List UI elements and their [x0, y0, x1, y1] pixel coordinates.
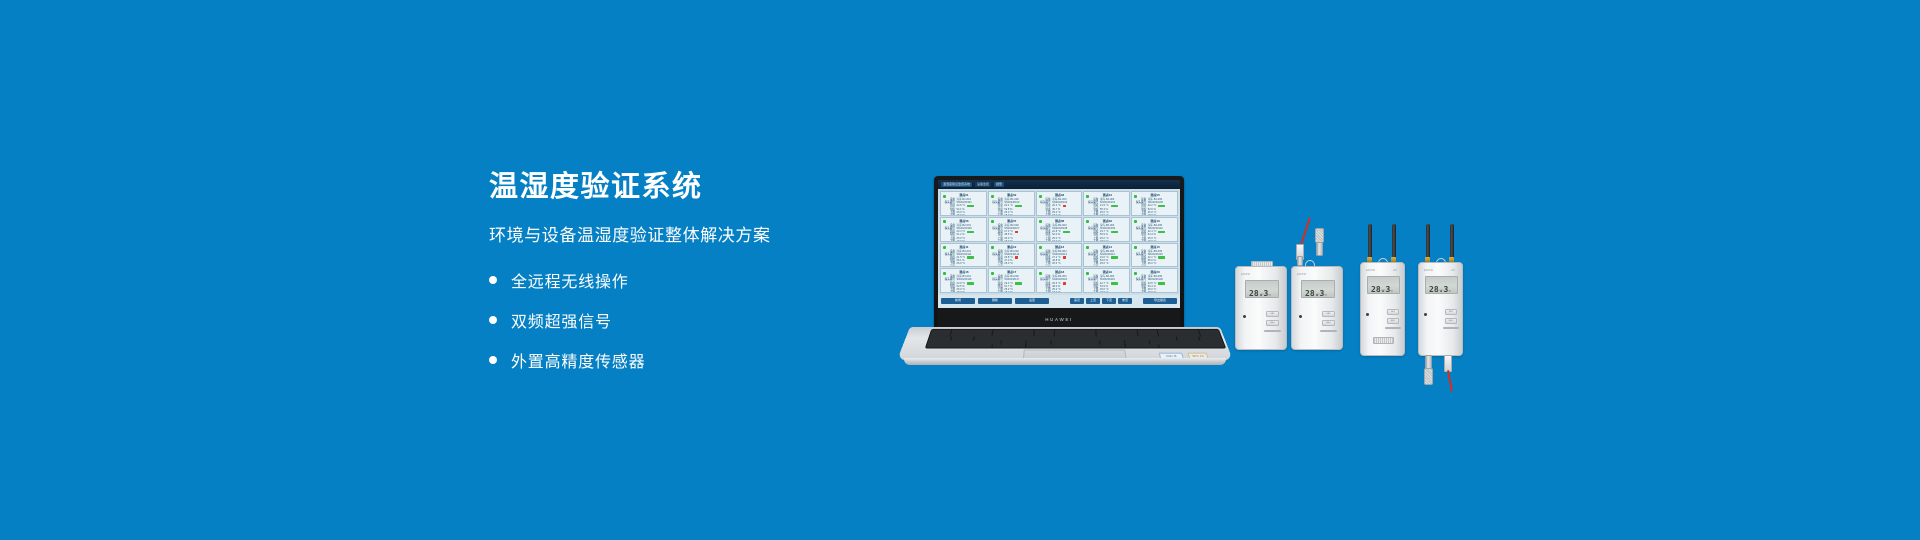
list-item: 外置高精度传感器 — [489, 348, 949, 372]
sensor-card-title: 测点15 — [1135, 246, 1175, 249]
keyboard-key[interactable] — [974, 337, 997, 340]
keyboard-key[interactable] — [1192, 345, 1226, 348]
lcd-humidity: 45.6 — [1249, 296, 1266, 298]
sensor-card-title: 测点13 — [1040, 246, 1080, 249]
sensor-card[interactable]: 测点13设备冷库-B3-003探头编号SN20230113温度27.2 °C湿度… — [1036, 243, 1083, 268]
device-model-label: H8 — [1393, 269, 1397, 272]
sensor-card[interactable]: 测点05设备冷库-B1-005探头编号SN20230105温度22.2 °C湿度… — [1131, 191, 1178, 216]
keyboard-key[interactable] — [977, 341, 1002, 344]
device-brand-label: ENOW — [1297, 273, 1306, 276]
sensor-field-label: 下限 — [1040, 214, 1051, 216]
indicator-led — [1299, 315, 1302, 318]
keyboard-key[interactable] — [931, 329, 952, 332]
keyboard-key[interactable] — [1199, 341, 1224, 344]
sensor-field-value: 18.0 °C — [1052, 214, 1061, 216]
rec-button[interactable]: REC — [1387, 318, 1399, 324]
laptop-keyboard[interactable] — [925, 329, 1227, 349]
sensor-field-value: 18.0 °C — [1100, 291, 1109, 293]
keyboard-key[interactable] — [1177, 337, 1200, 340]
keyboard-key[interactable] — [971, 333, 992, 336]
status-led-icon — [943, 246, 946, 249]
sensor-card-row: 下限18.0 °C — [992, 240, 1032, 242]
status-badge — [967, 282, 974, 285]
status-led-icon — [943, 272, 946, 275]
sensor-field-label: 下限 — [1135, 266, 1146, 268]
device-wireless-c: ENOW H8 28.3℃ 45.6%RH REC SET REC — [1360, 224, 1405, 356]
status-led-icon — [991, 220, 994, 223]
keyboard-key[interactable] — [959, 345, 992, 348]
status-badge — [1111, 282, 1118, 285]
tab-monitoring[interactable]: 温湿度验证监控系统 — [941, 182, 972, 187]
sensor-card[interactable]: 测点09设备冷库-B2-004探头编号SN20230109温度23.7 °C湿度… — [1083, 217, 1130, 242]
status-led-icon — [1086, 195, 1089, 198]
keyboard-key[interactable] — [952, 341, 977, 344]
pagination: 首页 上页 下页 末页 — [1070, 298, 1132, 304]
antenna-right-icon — [1392, 224, 1396, 258]
sensor-card-title: 测点01 — [944, 194, 984, 197]
app-topbar: 温湿度验证监控系统 设备监控 报警 — [938, 180, 1180, 189]
keyboard-key[interactable] — [926, 345, 960, 348]
sensor-card[interactable]: 测点01设备冷库-B1-001探头编号SN20230101温度22.6 °C湿度… — [940, 191, 987, 216]
keyboard-key[interactable] — [1042, 337, 1064, 340]
keyboard-key[interactable] — [927, 341, 952, 344]
keyboard-key[interactable] — [1159, 345, 1193, 348]
hero-text-block: 温湿度验证系统 环境与设备温湿度验证整体解决方案 全远程无线操作 双频超强信号 … — [489, 172, 949, 388]
keyboard-key[interactable] — [1076, 341, 1100, 344]
sensor-field-label: 下限 — [1087, 240, 1098, 242]
alarm-badge — [1063, 282, 1066, 285]
status-led-icon — [1134, 246, 1137, 249]
keyboard-key[interactable] — [1117, 333, 1138, 336]
sensor-field-label: 下限 — [944, 291, 955, 293]
keyboard-key[interactable] — [1013, 333, 1034, 336]
sensor-field-value: 18.0 °C — [1100, 214, 1109, 216]
keyboard-key[interactable] — [992, 333, 1013, 336]
sensor-field-label: 下限 — [992, 266, 1003, 268]
keyboard-key[interactable] — [1132, 337, 1155, 340]
antenna-left-icon — [1368, 224, 1372, 258]
sensor-card-title: 测点18 — [1040, 271, 1080, 274]
sensor-field-value: 18.0 °C — [1148, 214, 1157, 216]
sensor-card-title: 测点20 — [1135, 271, 1175, 274]
tab-alarms[interactable]: 报警 — [994, 182, 1004, 187]
keyboard-key[interactable] — [1087, 337, 1109, 340]
antenna-right-icon — [1450, 224, 1454, 258]
export-report-button[interactable]: 导出报表 — [1143, 298, 1177, 304]
sensor-card[interactable]: 测点15设备冷库-B3-005探头编号SN20230115温度22.1 °C湿度… — [1131, 243, 1178, 268]
keyboard-key[interactable] — [992, 345, 1025, 348]
status-led-icon — [1039, 272, 1042, 275]
laptop-base: Intel i5 WIN 10 — [900, 327, 1230, 367]
keyboard-key[interactable] — [1100, 341, 1124, 344]
sensor-card-row: 下限18.0 °C — [1135, 240, 1175, 242]
sensor-field-value: 18.0 °C — [1004, 266, 1013, 268]
sensor-card-row: 下限18.0 °C — [1087, 291, 1127, 293]
sensor-field-value: 18.0 °C — [1004, 240, 1013, 242]
status-led-icon — [991, 272, 994, 275]
alarm-badge — [1063, 205, 1066, 208]
laptop-screen: 温湿度验证监控系统 设备监控 报警 测点01设备冷库-B1-001探头编号SN2… — [938, 180, 1180, 308]
keyboard-row — [931, 329, 1220, 332]
page-title: 温湿度验证系统 — [489, 172, 949, 204]
lcd-display: 28.3℃ 45.6%RH REC — [1301, 280, 1335, 298]
keyboard-key[interactable] — [951, 329, 972, 332]
sensor-field-label: 下限 — [992, 291, 1003, 293]
keyboard-row — [930, 333, 1221, 336]
status-badge — [1015, 282, 1022, 285]
sensor-card-row: 下限18.0 °C — [944, 266, 984, 268]
list-item: 全远程无线操作 — [489, 268, 949, 292]
keyboard-key[interactable] — [972, 329, 993, 332]
keyboard-key[interactable] — [1055, 333, 1075, 336]
keyboard-key[interactable] — [1174, 341, 1199, 344]
indicator-led — [1243, 315, 1246, 318]
sensor-field-value: 18.0 °C — [1148, 240, 1157, 242]
feature-label: 外置高精度传感器 — [511, 348, 645, 372]
sensor-field-label: 下限 — [1040, 266, 1051, 268]
lcd-status-label: REC — [1246, 294, 1278, 296]
sensor-card-row: 下限18.0 °C — [944, 291, 984, 293]
status-badge — [1158, 205, 1165, 208]
keyboard-key[interactable] — [996, 337, 1018, 340]
sensor-field-label: 下限 — [1040, 240, 1051, 242]
keyboard-key[interactable] — [928, 337, 951, 340]
sensor-field-value: 18.0 °C — [1052, 240, 1061, 242]
sensor-card-row: 下限18.0 °C — [1135, 214, 1175, 216]
sensor-field-label: 下限 — [1135, 291, 1146, 293]
keyboard-key[interactable] — [1019, 337, 1041, 340]
keyboard-key[interactable] — [1109, 337, 1131, 340]
alarm-badge — [1015, 231, 1018, 234]
status-led-icon — [991, 246, 994, 249]
keyboard-key[interactable] — [1096, 333, 1117, 336]
bullet-icon — [489, 316, 497, 324]
set-button[interactable]: SET — [1322, 311, 1335, 317]
device-brand-label: ENOW — [1241, 273, 1250, 276]
keyboard-key[interactable] — [1154, 337, 1177, 340]
status-led-icon — [1039, 220, 1042, 223]
rec-button[interactable]: REC — [1445, 318, 1457, 324]
feature-label: 全远程无线操作 — [511, 268, 629, 292]
sensor-card-row: 下限18.0 °C — [1087, 266, 1127, 268]
status-led-icon — [943, 195, 946, 198]
keyboard-row — [928, 337, 1222, 340]
sensor-field-value: 18.0 °C — [1004, 291, 1013, 293]
keyboard-key[interactable] — [1059, 345, 1092, 348]
sensor-field-label: 下限 — [1087, 291, 1098, 293]
sensor-field-value: 18.0 °C — [1052, 266, 1061, 268]
lcd-humidity: 45.6 — [1371, 292, 1388, 294]
sensor-card-title: 测点10 — [1135, 220, 1175, 223]
sensor-card-row: 下限18.0 °C — [1135, 291, 1175, 293]
keyboard-key[interactable] — [1064, 337, 1086, 340]
device-lineup: ENOW 28.3℃ 45.6%RH REC SET REC — [1235, 210, 1535, 410]
lcd-humidity: 45.6 — [1429, 292, 1446, 294]
sensor-card-title: 测点04 — [1087, 194, 1127, 197]
set-button[interactable]: SET — [1387, 309, 1399, 315]
sensor-card[interactable]: 测点08设备冷库-B2-003探头编号SN20230108温度22.8 °C湿度… — [1036, 217, 1083, 242]
sensor-field-label: 下限 — [944, 240, 955, 242]
keyboard-key[interactable] — [1200, 333, 1221, 336]
sensor-field-value: 18.0 °C — [957, 240, 966, 242]
sensor-card-title: 测点14 — [1087, 246, 1127, 249]
device-model-label: H8 — [1451, 269, 1455, 272]
status-badge — [1111, 231, 1118, 234]
sensor-card[interactable]: 测点17设备冷库-B4-002探头编号SN20230117温度23.3 °C湿度… — [988, 268, 1035, 293]
list-item: 双频超强信号 — [489, 308, 949, 332]
keyboard-key[interactable] — [1157, 329, 1178, 332]
sensor-card[interactable]: 测点16设备冷库-B4-001探头编号SN20230116温度22.9 °C湿度… — [940, 268, 987, 293]
keyboard-key[interactable] — [1138, 333, 1159, 336]
label-strip — [1264, 330, 1281, 332]
device-logger-b: ENOW 28.3℃ 45.6%RH REC SET REC — [1291, 258, 1343, 350]
bullet-icon — [489, 356, 497, 364]
sensor-card[interactable]: 测点02设备冷库-B1-002探头编号SN20230102温度23.1 °C湿度… — [988, 191, 1035, 216]
status-led-icon — [1134, 272, 1137, 275]
sensor-field-value: 18.0 °C — [1004, 214, 1013, 216]
device-brand-label: ENOW — [1366, 269, 1375, 272]
status-led-icon — [1086, 272, 1089, 275]
status-badge — [1111, 256, 1118, 259]
sensor-card[interactable]: 测点19设备冷库-B4-004探头编号SN20230119温度22.7 °C湿度… — [1083, 268, 1130, 293]
status-badge — [1158, 231, 1165, 234]
status-led-icon — [1039, 195, 1042, 198]
hero-banner: 温湿度验证系统 环境与设备温湿度验证整体解决方案 全远程无线操作 双频超强信号 … — [0, 0, 1920, 540]
sensor-card-row: 下限18.0 °C — [992, 266, 1032, 268]
sensor-card-title: 测点16 — [944, 271, 984, 274]
keyboard-key[interactable] — [930, 333, 951, 336]
sensor-card-title: 测点03 — [1040, 194, 1080, 197]
sensor-card-grid: 测点01设备冷库-B1-001探头编号SN20230101温度22.6 °C湿度… — [938, 189, 1180, 295]
device-brand-label: ENOW — [1424, 269, 1433, 272]
sensor-card-row: 下限18.0 °C — [992, 214, 1032, 216]
keyboard-key[interactable] — [1178, 329, 1199, 332]
sensor-card[interactable]: 测点11设备冷库-B3-001探头编号SN20230111温度21.5 °C湿度… — [940, 243, 987, 268]
sensor-card[interactable]: 测点20设备冷库-B4-005探头编号SN20230120温度23.5 °C湿度… — [1131, 268, 1178, 293]
app-bottombar: 新增 刷新 设置 首页 上页 下页 末页 导出报表 — [938, 295, 1180, 306]
alarm-badge — [1063, 256, 1066, 259]
sensor-card-row: 下限18.0 °C — [992, 291, 1032, 293]
keyboard-row — [927, 341, 1224, 344]
page-prev-button[interactable]: 上页 — [1086, 298, 1100, 304]
sensor-card-row: 下限18.0 °C — [944, 240, 984, 242]
sensor-card-row: 下限18.0 °C — [1040, 291, 1080, 293]
keyboard-key[interactable] — [1198, 329, 1219, 332]
keyboard-key[interactable] — [1092, 345, 1125, 348]
feature-list: 全远程无线操作 双频超强信号 外置高精度传感器 — [489, 268, 949, 372]
sensor-field-label: 下限 — [1040, 291, 1051, 293]
keyboard-key[interactable] — [1034, 329, 1054, 332]
sensor-card[interactable]: 测点12设备冷库-B3-002探头编号SN20230112温度26.8 °C湿度… — [988, 243, 1035, 268]
keyboard-key[interactable] — [1199, 337, 1222, 340]
keyboard-key[interactable] — [1125, 341, 1150, 344]
status-badge — [1063, 231, 1070, 234]
sensor-field-label: 下限 — [992, 240, 1003, 242]
status-badge — [967, 256, 974, 259]
tab-devices[interactable]: 设备监控 — [975, 182, 991, 187]
keyboard-key[interactable] — [1137, 329, 1158, 332]
lcd-status-label: REC — [1368, 290, 1399, 292]
keyboard-key[interactable] — [950, 333, 971, 336]
sensor-field-label: 下限 — [1087, 214, 1098, 216]
keyboard-key[interactable] — [951, 337, 974, 340]
laptop-deck: Intel i5 WIN 10 — [897, 327, 1233, 360]
sensor-card[interactable]: 测点04设备冷库-B1-004探头编号SN20230104温度21.9 °C湿度… — [1083, 191, 1130, 216]
indicator-led — [1424, 313, 1427, 316]
sensor-field-label: 下限 — [944, 266, 955, 268]
status-badge — [967, 205, 974, 208]
laptop-lid: 温湿度验证监控系统 设备监控 报警 测点01设备冷库-B1-001探头编号SN2… — [934, 176, 1184, 331]
lcd-humidity: 45.6 — [1305, 296, 1322, 298]
sensor-card-title: 测点08 — [1040, 220, 1080, 223]
page-subtitle: 环境与设备温湿度验证整体解决方案 — [489, 221, 949, 246]
indicator-led — [1366, 313, 1369, 316]
sensor-field-label: 下限 — [1135, 214, 1146, 216]
sensor-card-title: 测点06 — [944, 220, 984, 223]
keyboard-key[interactable] — [1026, 345, 1059, 348]
probe-sensor-head — [1424, 368, 1433, 385]
sensor-card-title: 测点02 — [992, 194, 1032, 197]
keyboard-key[interactable] — [1075, 329, 1095, 332]
feature-label: 双频超强信号 — [511, 308, 612, 332]
sensor-field-label: 下限 — [944, 214, 955, 216]
probe-wire — [1447, 370, 1453, 392]
sensor-card[interactable]: 测点10设备冷库-B2-005探头编号SN20230110温度22.4 °C湿度… — [1131, 217, 1178, 242]
label-strip — [1320, 330, 1337, 332]
set-button[interactable]: SET — [1445, 309, 1457, 315]
sensor-card-row: 下限18.0 °C — [1087, 240, 1127, 242]
sensor-card[interactable]: 测点06设备冷库-B2-001探头编号SN20230106温度23.4 °C湿度… — [940, 217, 987, 242]
sensor-card[interactable]: 测点07设备冷库-B2-002探头编号SN20230107温度27.0 °C湿度… — [988, 217, 1035, 242]
keyboard-key[interactable] — [1001, 341, 1025, 344]
status-led-icon — [1134, 195, 1137, 198]
page-last-button[interactable]: 末页 — [1118, 298, 1132, 304]
sensor-card-title: 测点12 — [992, 246, 1032, 249]
status-badge — [1158, 282, 1165, 285]
keyboard-key[interactable] — [1158, 333, 1179, 336]
sensor-field-label: 下限 — [1135, 240, 1146, 242]
sensor-card-title: 测点09 — [1087, 220, 1127, 223]
sensor-card[interactable]: 测点18设备冷库-B4-003探头编号SN20230118温度26.6 °C湿度… — [1036, 268, 1083, 293]
rec-button[interactable]: REC — [1322, 320, 1335, 326]
sensor-field-value: 18.0 °C — [1148, 266, 1157, 268]
lcd-display: 28.3℃ 45.6%RH REC — [1367, 276, 1400, 294]
probe-shaft — [1297, 256, 1303, 266]
lcd-status-label: REC — [1302, 294, 1334, 296]
sensor-card-row: 下限18.0 °C — [1135, 266, 1175, 268]
bullet-icon — [489, 276, 497, 284]
page-first-button[interactable]: 首页 — [1070, 298, 1084, 304]
settings-button[interactable]: 设置 — [1015, 298, 1049, 304]
keyboard-key[interactable] — [1026, 341, 1050, 344]
keyboard-row — [926, 345, 1226, 348]
sensor-card-row: 下限18.0 °C — [1040, 240, 1080, 242]
keyboard-key[interactable] — [1013, 329, 1033, 332]
vent-strip-icon — [1373, 337, 1394, 344]
sensor-card-title: 测点07 — [992, 220, 1032, 223]
huawei-logo: HUAWEI — [1045, 317, 1073, 322]
rec-button[interactable]: REC — [1266, 320, 1279, 326]
refresh-button[interactable]: 刷新 — [978, 298, 1012, 304]
status-badge — [1158, 256, 1165, 259]
sensor-field-value: 18.0 °C — [1100, 266, 1109, 268]
status-led-icon — [1039, 246, 1042, 249]
sensor-card-title: 测点05 — [1135, 194, 1175, 197]
probe-sensor-body — [1316, 242, 1323, 256]
add-button[interactable]: 新增 — [941, 298, 975, 304]
status-led-icon — [991, 195, 994, 198]
label-strip — [1385, 327, 1401, 329]
sensor-card-row: 下限18.0 °C — [1040, 214, 1080, 216]
lcd-display: 28.3℃ 45.6%RH REC — [1425, 276, 1458, 294]
label-strip — [1443, 327, 1459, 329]
keyboard-key[interactable] — [1051, 341, 1075, 344]
status-badge — [1111, 205, 1118, 208]
sensor-card-row: 下限18.0 °C — [1040, 266, 1080, 268]
laptop-product-image: 温湿度验证监控系统 设备监控 报警 测点01设备冷库-B1-001探头编号SN2… — [900, 176, 1230, 371]
keyboard-key[interactable] — [1034, 333, 1054, 336]
keyboard-key[interactable] — [1055, 329, 1075, 332]
keyboard-key[interactable] — [1179, 333, 1200, 336]
page-next-button[interactable]: 下页 — [1102, 298, 1116, 304]
sensor-card-row: 下限18.0 °C — [944, 214, 984, 216]
status-badge — [967, 231, 974, 234]
probe-sensor-head — [1315, 228, 1324, 243]
device-wireless-d: ENOW H8 28.3℃ 45.6%RH REC SET REC — [1418, 224, 1463, 356]
alarm-badge — [1015, 256, 1018, 259]
keyboard-key[interactable] — [1125, 345, 1158, 348]
keyboard-key[interactable] — [1075, 333, 1095, 336]
lcd-display: 28.3℃ 45.6%RH REC — [1245, 280, 1279, 298]
sensor-field-value: 18.0 °C — [1100, 240, 1109, 242]
lcd-status-label: REC — [1426, 290, 1457, 292]
device-logger-a: ENOW 28.3℃ 45.6%RH REC SET REC — [1235, 266, 1287, 350]
sensor-field-value: 18.0 °C — [957, 214, 966, 216]
keyboard-key[interactable] — [1116, 329, 1136, 332]
sensor-field-value: 18.0 °C — [957, 291, 966, 293]
sensor-field-value: 18.0 °C — [957, 266, 966, 268]
keyboard-key[interactable] — [993, 329, 1013, 332]
sensor-card-title: 测点19 — [1087, 271, 1127, 274]
keyboard-key[interactable] — [1149, 341, 1174, 344]
keyboard-key[interactable] — [1096, 329, 1116, 332]
sensor-card[interactable]: 测点14设备冷库-B3-004探头编号SN20230114温度23.0 °C湿度… — [1083, 243, 1130, 268]
sensor-field-label: 下限 — [992, 214, 1003, 216]
set-button[interactable]: SET — [1266, 311, 1279, 317]
status-badge — [1015, 205, 1022, 208]
status-led-icon — [943, 220, 946, 223]
laptop-front-edge — [904, 358, 1226, 365]
sensor-field-value: 18.0 °C — [1052, 291, 1061, 293]
sensor-field-value: 18.0 °C — [1148, 291, 1157, 293]
sensor-field-label: 下限 — [1087, 266, 1098, 268]
sensor-card-row: 下限18.0 °C — [1087, 214, 1127, 216]
sensor-card-title: 测点11 — [944, 246, 984, 249]
sensor-card-title: 测点17 — [992, 271, 1032, 274]
antenna-left-icon — [1426, 224, 1430, 258]
sensor-card[interactable]: 测点03设备冷库-B1-003探头编号SN20230103温度26.4 °C湿度… — [1036, 191, 1083, 216]
